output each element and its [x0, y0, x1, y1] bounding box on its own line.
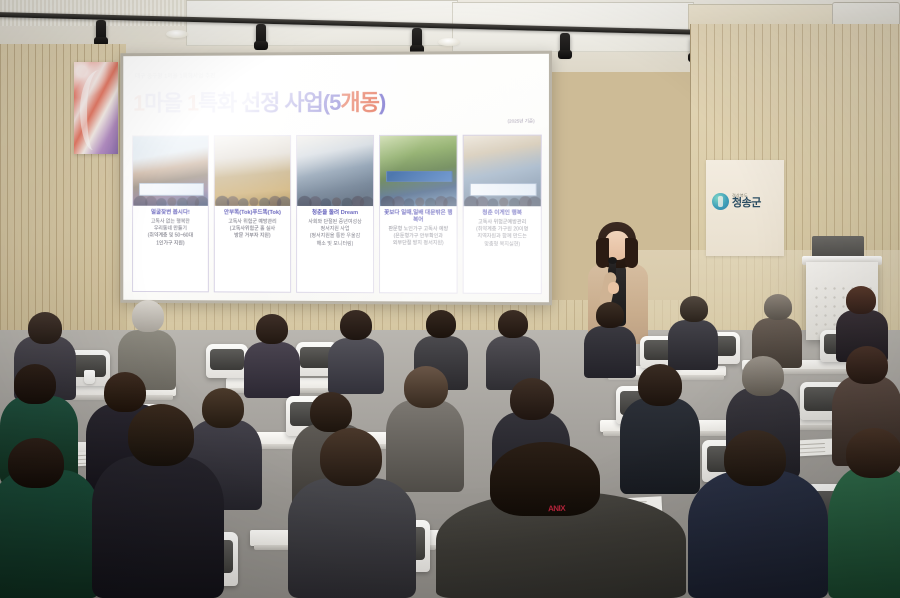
audience-person-head	[202, 388, 244, 428]
ceiling-light-dome-1	[166, 30, 188, 38]
audience-person-torso	[828, 466, 900, 598]
presenter-hand	[608, 282, 619, 294]
spotlight-3	[412, 28, 422, 50]
jacket-logo: ANIX	[548, 504, 565, 514]
spotlight-2	[256, 24, 266, 46]
photo-village-festival	[133, 136, 208, 206]
audience-person-torso	[328, 338, 384, 394]
audience-person-head	[680, 296, 708, 322]
audience-person-torso	[0, 470, 100, 598]
audience-person-head	[846, 286, 876, 314]
audience-person-head	[128, 404, 194, 466]
photo-crowd	[297, 175, 373, 206]
audience-person-head	[724, 430, 786, 486]
audience-person-head	[510, 378, 554, 420]
projection-screen: 대구 중구형 1마을 1특화사업 추진 1마을 1특화 선정 사업(5개동) (…	[123, 54, 549, 302]
audience-person-torso	[668, 320, 718, 370]
audience-person-head	[132, 300, 164, 332]
audience-person-head	[764, 294, 792, 320]
panel-heading: 청춘을 돌려 Dream	[297, 206, 373, 219]
audience-person-head	[846, 346, 888, 384]
photo-food-delivery	[215, 136, 290, 206]
audience-person-head	[14, 364, 56, 404]
slide-panel: 꽃보다 일때,일배 대문밖은 행복어 판문형 노인가구 고독사 예방 (은둔형가…	[379, 135, 458, 294]
audience-person-torso	[584, 326, 636, 378]
audience-person-head	[340, 310, 372, 340]
panel-body: 사회와 단절된 중년여성상 정서지원 사업 (정서지원을 통한 우울감 해소 및…	[297, 219, 373, 252]
panel-body: 고독사 없는 행복한 우리동네 만들기 (취약계층 및 50~60대 1인가구 …	[133, 219, 208, 252]
audience-person-head	[404, 366, 448, 408]
slide-panel-row: 얼굴잦변 봅시다! 고독사 없는 행복한 우리동네 만들기 (취약계층 및 50…	[132, 135, 542, 295]
panel-heading: 청춘 이게인 행복	[464, 206, 541, 219]
audience-person-head	[256, 314, 288, 344]
photo-crowd	[215, 175, 290, 206]
ceiling-light-dome-2	[438, 38, 460, 46]
paper-cup-1	[84, 370, 95, 384]
slide-kicker: 대구 중구형 1마을 1특화사업 추진	[135, 72, 216, 80]
panel-heading: 꽃보다 일때,일배 대문밖은 행복어	[380, 206, 457, 226]
lecture-hall-photo: 경상북도 청송군 대구 중구형 1마을 1특화사업 추진 1마을 1특화 선정 …	[0, 0, 900, 598]
photo-outdoor-garden	[380, 136, 457, 206]
audience-person-torso	[244, 342, 300, 398]
slide-panel: 청춘 이게인 행복 고독사 위험군예방관리 (취약계층 가구원 20이명 지역자…	[463, 135, 542, 295]
photo-indoor-gathering	[297, 136, 373, 206]
spotlight-1	[96, 20, 106, 42]
audience-person-head	[596, 302, 624, 328]
photo-banner	[386, 171, 452, 182]
audience-person-head	[638, 364, 682, 406]
panel-body: 고독사 위험군 예방관리 (고독사위험군 홀 실사 방문 거부자 지원)	[215, 219, 290, 245]
panel-heading: 얼굴잦변 봅시다!	[133, 206, 208, 219]
audience-person-torso	[688, 470, 828, 598]
audience-person-torso	[288, 478, 416, 598]
slide-panel: 청춘을 돌려 Dream 사회와 단절된 중년여성상 정서지원 사업 (정서지원…	[296, 135, 374, 293]
slide-panel: 안부똑(Tok)푸드똑(Tok) 고독사 위험군 예방관리 (고독사위험군 홀 …	[214, 135, 291, 293]
presenter-hair-right	[625, 238, 638, 268]
decorative-banner	[74, 62, 118, 154]
audience-person-head	[8, 438, 64, 488]
panel-body: 판문형 노인가구 고독사 예방 (은둔형가구 안부확인과 외부단절 방지 정서지…	[380, 226, 457, 252]
audience-person-torso	[620, 398, 700, 494]
venue-logo: 경상북도 청송군	[712, 188, 780, 214]
audience-person-torso	[386, 400, 464, 492]
foreground-person-head	[490, 442, 600, 516]
projection-screen-frame: 대구 중구형 1마을 1특화사업 추진 1마을 1특화 선정 사업(5개동) (…	[120, 51, 552, 306]
slide-panel: 얼굴잦변 봅시다! 고독사 없는 행복한 우리동네 만들기 (취약계층 및 50…	[132, 135, 209, 292]
audience-person-torso	[92, 456, 224, 598]
audience-person-head	[498, 310, 528, 338]
audience-person-head	[310, 392, 352, 432]
venue-sign-mainlabel: 청송군	[732, 198, 761, 209]
audience-person-head	[320, 428, 382, 486]
photo-banner-group	[464, 136, 541, 207]
panel-body: 고독사 위험군예방관리 (취약계층 가구원 20이명 지역자원과 함께 만드는 …	[464, 219, 541, 252]
slide-note: (2025년 기준)	[508, 118, 535, 124]
audience-person-head	[742, 356, 784, 396]
presenter-hair-left	[596, 238, 609, 268]
audience-person-head	[426, 310, 456, 338]
cheongsong-emblem-icon	[712, 193, 729, 210]
chair-back-2	[206, 344, 248, 378]
panel-heading: 안부똑(Tok)푸드똑(Tok)	[215, 206, 290, 219]
photo-banner	[470, 183, 537, 196]
audience-person-head	[104, 372, 146, 412]
photo-banner	[139, 183, 204, 196]
audience-person-head	[846, 428, 900, 478]
audience-person-head	[28, 312, 62, 344]
slide-title: 1마을 1특화 선정 사업(5개동)	[133, 85, 385, 118]
spotlight-4	[560, 33, 570, 55]
